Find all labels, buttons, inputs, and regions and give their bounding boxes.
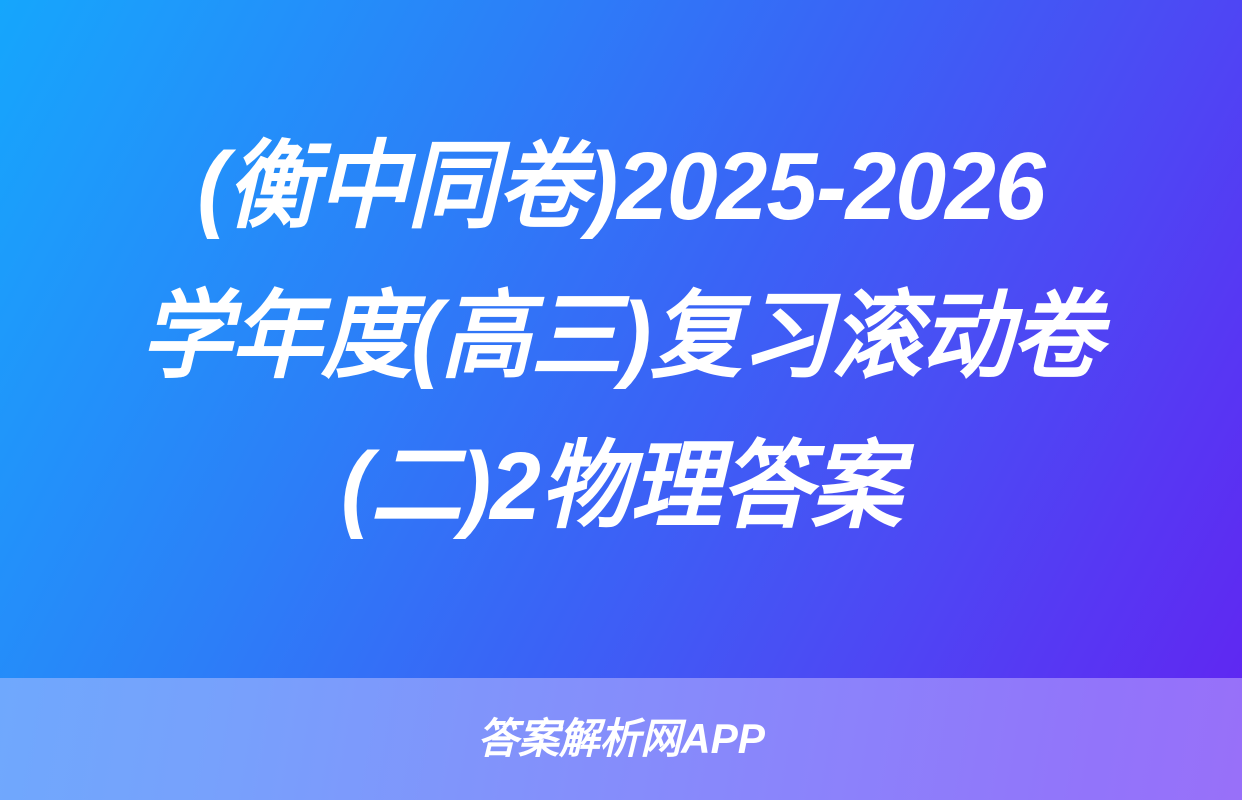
poster-container: (衡中同卷)2025-2026 学年度(高三)复习滚动卷 (二)2物理答案 答案… [0,0,1242,800]
footer-brand-bar: 答案解析网APP [0,678,1242,800]
hero-banner: (衡中同卷)2025-2026 学年度(高三)复习滚动卷 (二)2物理答案 [0,0,1242,678]
footer-brand-label: 答案解析网APP [477,716,764,762]
page-title: (衡中同卷)2025-2026 学年度(高三)复习滚动卷 (二)2物理答案 [14,112,1228,562]
title-line-2: 学年度(高三)复习滚动卷 [44,262,1197,412]
title-line-1: (衡中同卷)2025-2026 [44,112,1197,262]
title-line-3: (二)2物理答案 [44,412,1197,562]
